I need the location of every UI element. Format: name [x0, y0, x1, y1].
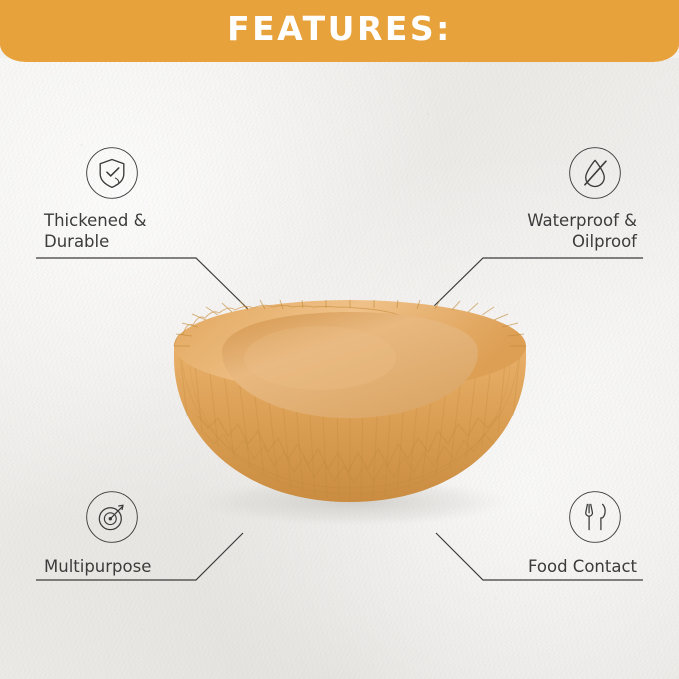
fork-knife-icon [568, 490, 622, 544]
feature-food-contact: Food Contact [449, 490, 649, 577]
feature-label-multipurpose: Multipurpose [44, 556, 230, 577]
water-drop-no-icon [568, 146, 622, 200]
feature-label-foodcontact: Food Contact [449, 556, 637, 577]
feature-label-thickened: Thickened & Durable [44, 210, 230, 252]
feature-thickened-durable: Thickened & Durable [30, 146, 230, 252]
liner-inner-highlight [244, 326, 396, 390]
feature-infographic-page: FEATURES: [0, 0, 679, 679]
target-icon [85, 490, 139, 544]
feature-multipurpose: Multipurpose [30, 490, 230, 577]
page-title: FEATURES: [0, 0, 679, 58]
feature-label-waterproof: Waterproof & Oilproof [449, 210, 637, 252]
shield-check-icon [85, 146, 139, 200]
header-banner: FEATURES: [0, 0, 679, 62]
feature-waterproof-oilproof: Waterproof & Oilproof [449, 146, 649, 252]
